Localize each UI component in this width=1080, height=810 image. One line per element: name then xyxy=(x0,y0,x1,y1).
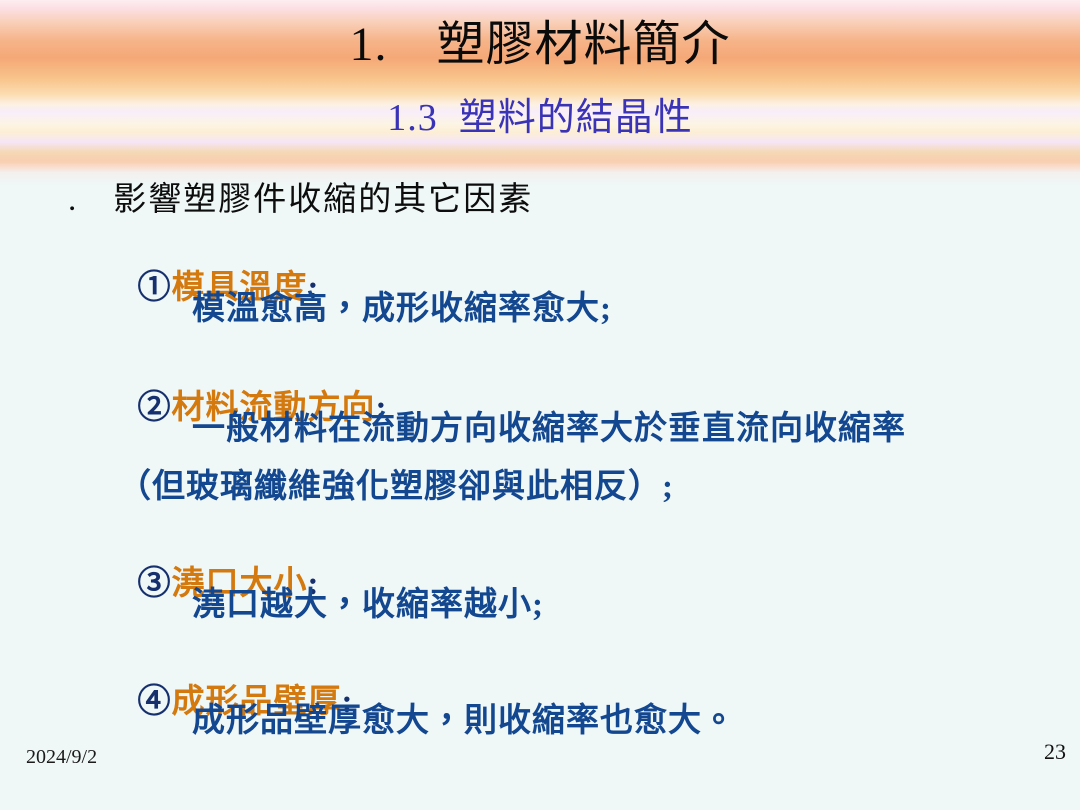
slide-canvas: 1. 塑膠材料簡介 1.3 塑料的結晶性 . 影響塑膠件收縮的其它因素 ①模具溫… xyxy=(0,0,1080,810)
list-item-marker: ② xyxy=(138,390,172,426)
list-item-detail: 澆口越大，收縮率越小; xyxy=(192,584,544,626)
watermark: 公众号 · Creo和Proe产品结构设计集 xyxy=(498,752,1024,810)
page-title: 1. 塑膠材料簡介 xyxy=(0,16,1080,74)
page-subtitle: 1.3 塑料的結晶性 xyxy=(0,94,1080,142)
slide-body: . 影響塑膠件收縮的其它因素 ①模具溫度: 模溫愈高，成形收縮率愈大; ②材料流… xyxy=(0,176,1080,736)
list-item-marker: ① xyxy=(138,270,172,306)
footer-date: 2024/9/2 xyxy=(26,744,97,770)
wechat-icon xyxy=(498,752,546,810)
page-number: 23 xyxy=(1044,738,1066,766)
list-item-detail: 一般材料在流動方向收縮率大於垂直流向收縮率 xyxy=(192,408,906,450)
list-item-detail: 模溫愈高，成形收縮率愈大; xyxy=(192,288,612,330)
section-heading: . 影響塑膠件收縮的其它因素 xyxy=(68,180,533,220)
list-item-detail: （但玻璃纖維強化塑膠卻與此相反）; xyxy=(118,466,674,508)
list-item-marker: ③ xyxy=(138,566,172,602)
list-item-marker: ④ xyxy=(138,684,172,720)
list-item-detail: 成形品壁厚愈大，則收縮率也愈大。 xyxy=(192,700,736,742)
